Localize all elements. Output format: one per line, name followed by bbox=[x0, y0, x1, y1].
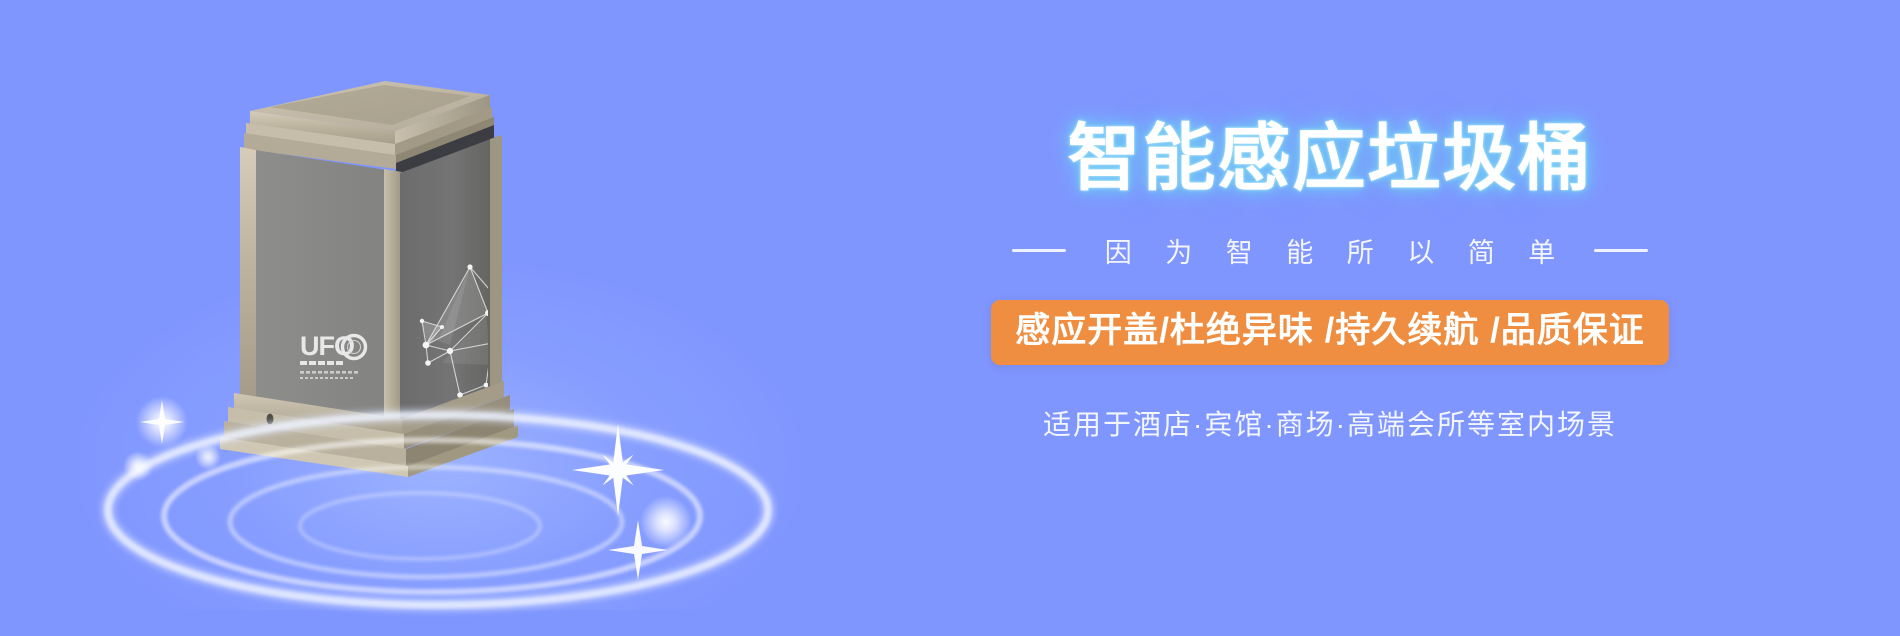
product-image: UFO bbox=[170, 45, 630, 485]
page-title: 智能感应垃圾桶 bbox=[1068, 122, 1593, 195]
product-body-side bbox=[400, 137, 496, 427]
product-trim-right bbox=[490, 135, 502, 389]
feature-highlight-bar: 感应开盖/杜绝异味 /持久续航 /品质保证 bbox=[991, 300, 1669, 365]
product-body-front bbox=[248, 149, 394, 423]
usage-scenario-tagline: 适用于酒店·宾馆·商场·高端会所等室内场景 bbox=[1043, 403, 1617, 443]
subtitle-text: 因 为 智 能 所 以 简 单 bbox=[1092, 231, 1569, 270]
subtitle-dash-left bbox=[1012, 249, 1066, 252]
ring-core bbox=[300, 493, 540, 559]
sparkle-glow-2 bbox=[123, 451, 153, 481]
subtitle-dash-right bbox=[1594, 249, 1648, 252]
subtitle-row: 因 为 智 能 所 以 简 单 bbox=[1012, 231, 1649, 270]
text-column: 智能感应垃圾桶 因 为 智 能 所 以 简 单 感应开盖/杜绝异味 /持久续航 … bbox=[880, 96, 1780, 516]
product-trim-left bbox=[240, 147, 256, 398]
sparkle-star-2 bbox=[608, 520, 668, 580]
product-trim-center bbox=[384, 169, 402, 425]
promo-banner: UFO bbox=[0, 0, 1900, 636]
base-latch bbox=[267, 414, 274, 425]
sparkle-glow-4 bbox=[640, 496, 692, 548]
